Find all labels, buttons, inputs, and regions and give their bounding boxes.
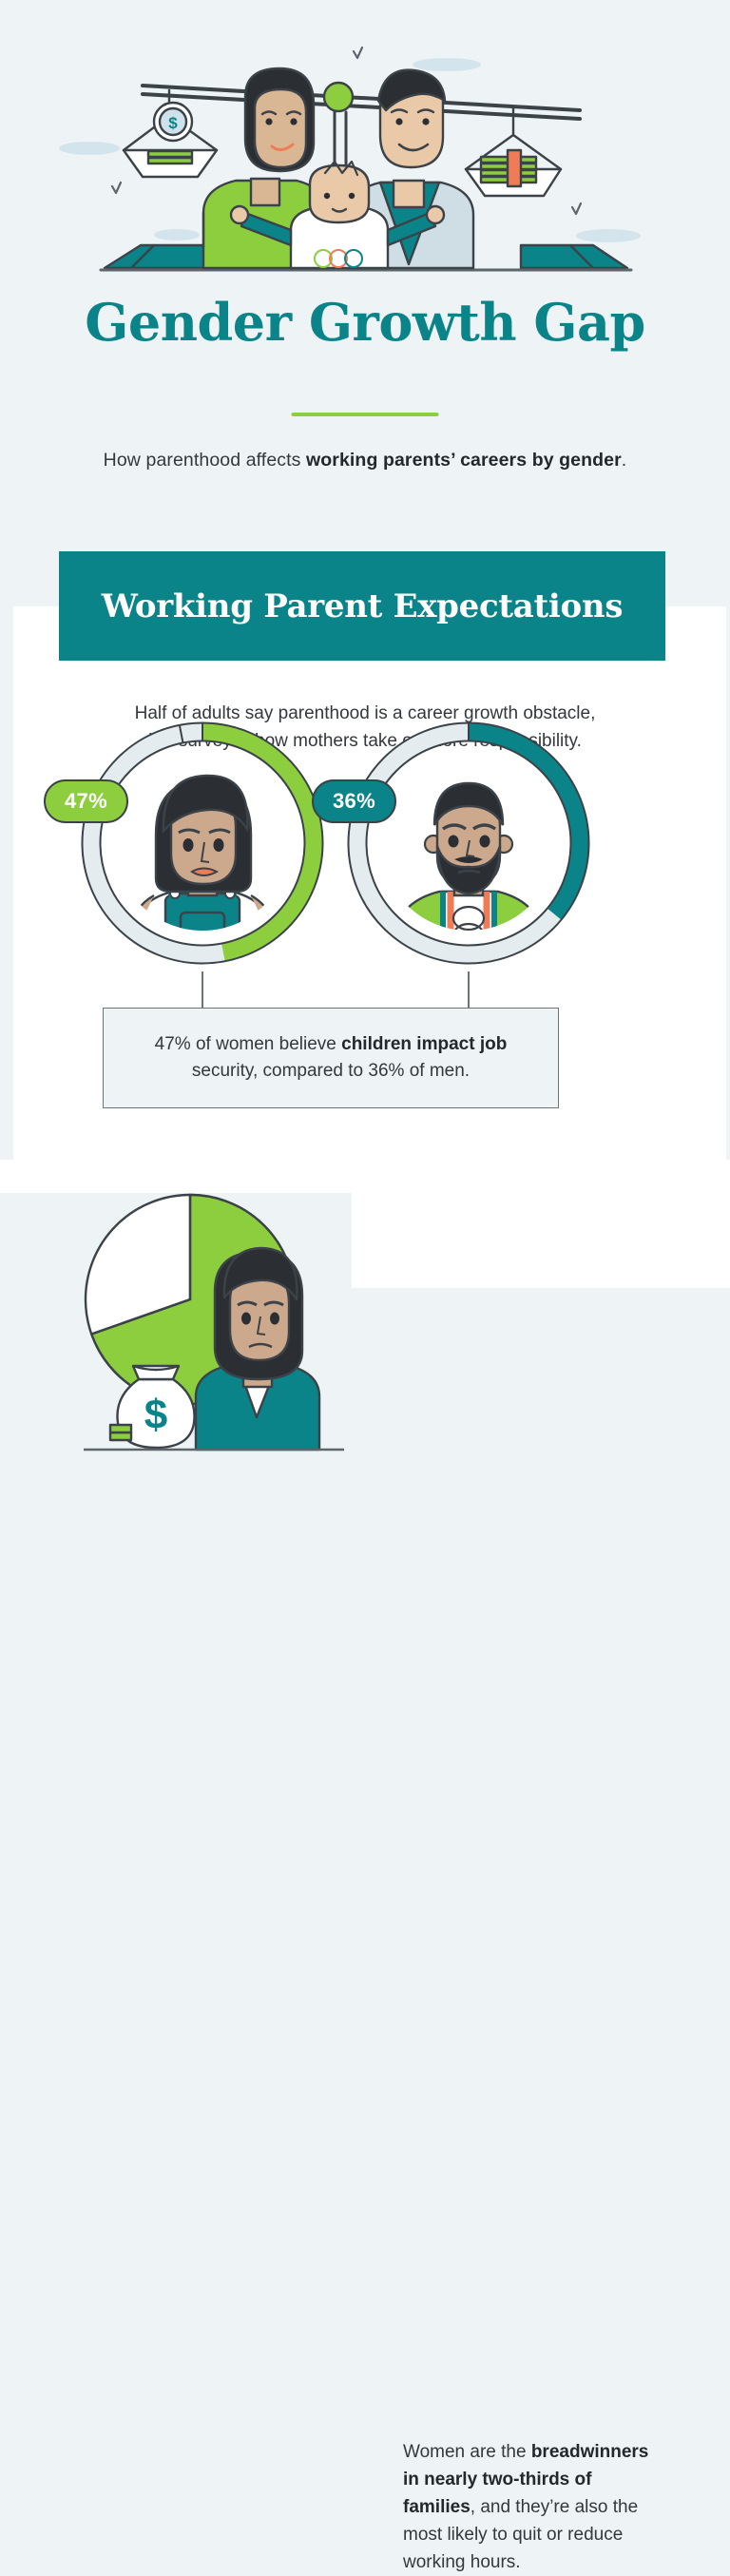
donut-men-svg — [340, 715, 597, 971]
infographic-page: $ — [0, 0, 730, 1642]
donut-women-badge: 47% — [44, 779, 128, 823]
donut-men-badge: 36% — [312, 779, 396, 823]
callout-connector-right — [468, 971, 470, 1008]
callout-box: 47% of women believe children impact job… — [103, 1008, 559, 1108]
page-title: Gender Growth Gap — [0, 295, 730, 351]
section-banner-working-parent-expectations: Working Parent Expectations — [59, 551, 665, 661]
svg-text:$: $ — [168, 114, 178, 132]
callout-prefix: 47% of women believe — [155, 1034, 341, 1054]
hero-illustration: $ — [0, 10, 730, 285]
callout-emphasis: children impact job — [341, 1034, 507, 1054]
section2: $ — [0, 1193, 730, 1642]
callout-text: 47% of women believe children impact job… — [104, 1031, 558, 1085]
pie-breadwinners-svg: $ — [57, 1193, 371, 1469]
page-subtitle: How parenthood affects working parents’ … — [0, 450, 730, 471]
donut-chart-men: 36% — [340, 715, 597, 971]
family-on-scales-icon: $ — [0, 10, 730, 285]
donut-chart-women: 47% — [74, 715, 331, 971]
section2-text: Women are the breadwinners in nearly two… — [403, 2438, 650, 2576]
donut-chart-group: 47% — [0, 715, 730, 1000]
woman-avatar — [115, 756, 290, 943]
pie-chart-breadwinners: $ — [57, 1193, 371, 1469]
callout-suffix: security, compared to 36% of men. — [192, 1061, 470, 1081]
subtitle-emphasis: working parents’ careers by gender — [306, 450, 622, 471]
subtitle-suffix: . — [622, 450, 627, 471]
title-divider — [292, 413, 439, 416]
section2-prefix: Women are the — [403, 2442, 531, 2462]
svg-text:$: $ — [144, 1392, 167, 1438]
donut-women-svg — [74, 715, 331, 971]
callout-connector-left — [202, 971, 203, 1008]
section-banner-title: Working Parent Expectations — [102, 587, 623, 625]
subtitle-prefix: How parenthood affects — [104, 450, 306, 471]
